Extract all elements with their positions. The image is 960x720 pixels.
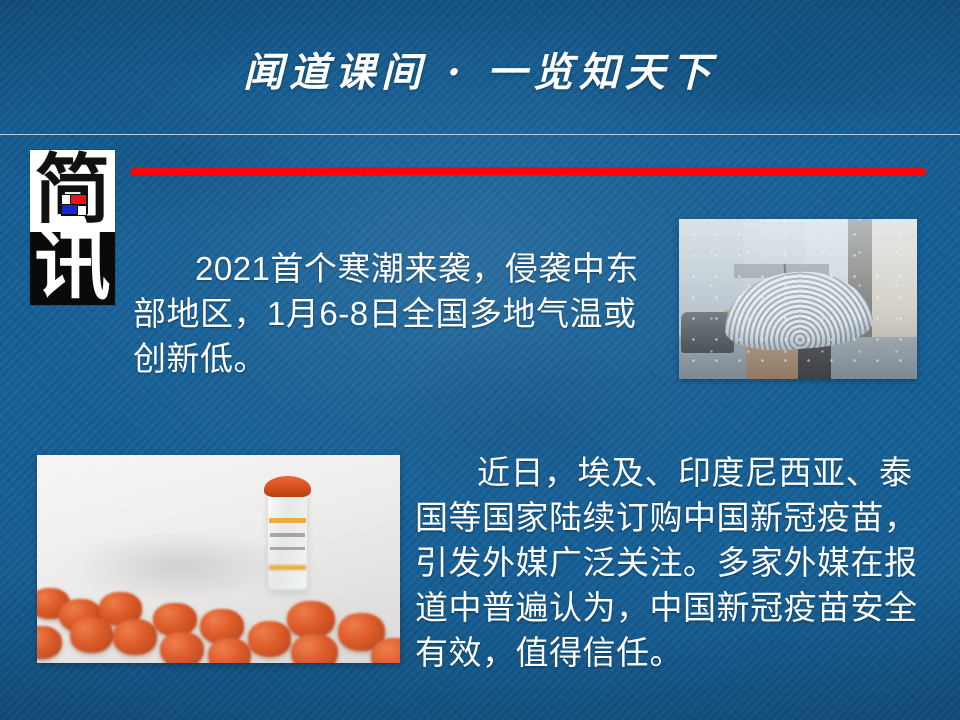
logo-bottom-panel: 讯: [30, 232, 115, 305]
page-title: 闻道课间 · 一览知天下: [0, 40, 960, 98]
red-accent-bar: [131, 167, 925, 175]
logo-char-jian: 简: [30, 152, 115, 228]
vaccine-depth-blur: [37, 555, 400, 663]
logo-flag-blue-block: [62, 205, 77, 214]
vaccine-vial-label-line-1: [270, 533, 305, 537]
logo-flag-white-upper: [62, 195, 70, 204]
snow-haze-overlay: [679, 219, 917, 379]
vaccine-photo-layers: [37, 455, 400, 663]
vaccine-vial-stripe-upper: [269, 518, 306, 523]
snow-umbrella-street-photo: [679, 219, 917, 379]
header-divider: [0, 134, 960, 135]
story-1-body-text: 2021首个寒潮来袭，侵袭中东部地区，1月6-8日全国多地气温或创新低。: [133, 246, 653, 381]
brand-logo: 简 讯: [30, 150, 115, 305]
story-2-body-text: 近日，埃及、印度尼西亚、泰国等国家陆续订购中国新冠疫苗，引发外媒广泛关注。多家外…: [415, 450, 925, 675]
vaccine-vial-cap: [264, 476, 311, 498]
logo-flag-icon: [61, 194, 87, 216]
logo-flag-white-lower: [78, 206, 86, 215]
snow-photo-layers: [679, 219, 917, 379]
vaccine-vial-label-line-2: [270, 547, 305, 550]
covid-vaccine-vials-photo: [37, 455, 400, 663]
logo-char-xun: 讯: [30, 228, 115, 304]
logo-flag-red-block: [71, 195, 86, 204]
slide-canvas: 闻道课间 · 一览知天下 简 讯 2021首个寒潮来袭，侵袭中东部地区，1月6-…: [0, 0, 960, 720]
